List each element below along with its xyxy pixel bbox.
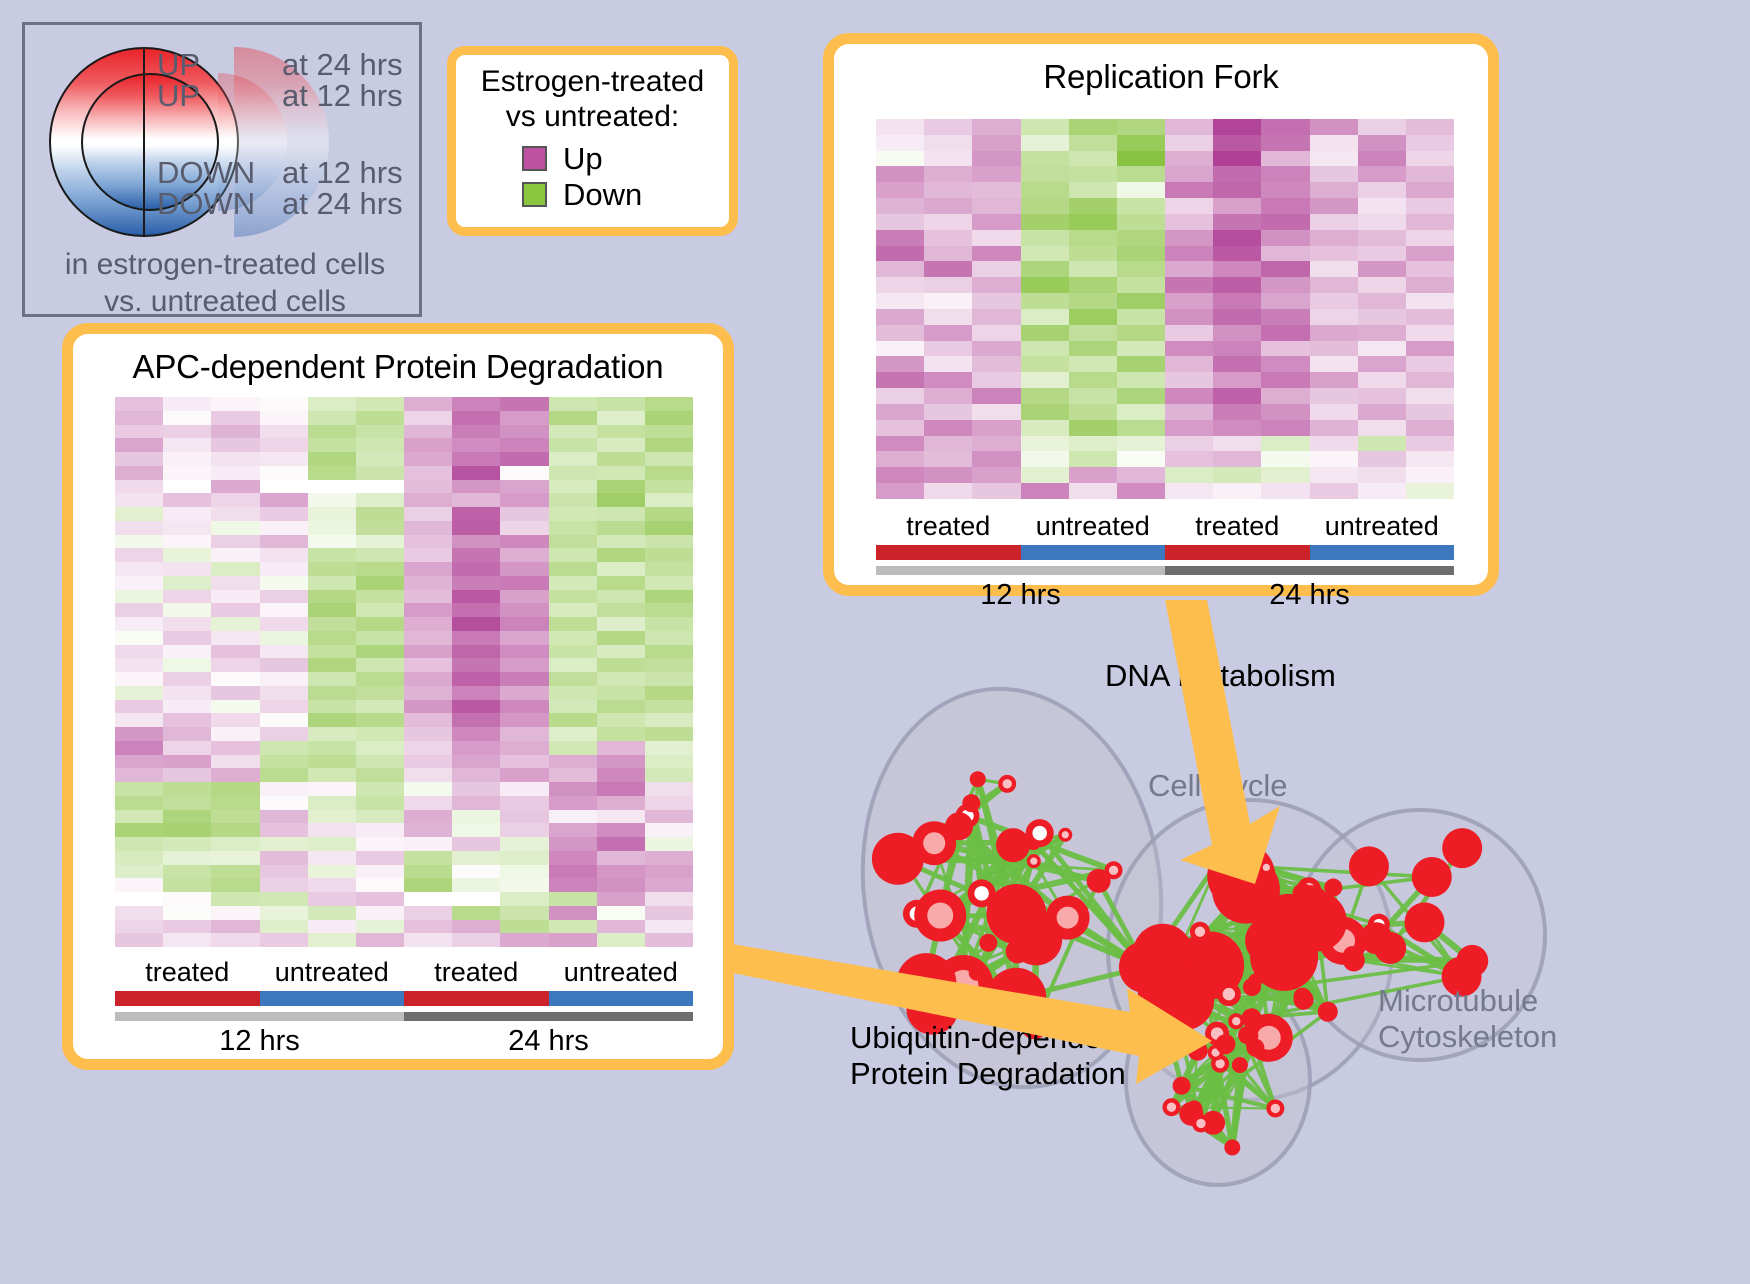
heatmap-cell xyxy=(1021,451,1069,467)
heatmap-cell xyxy=(1117,420,1165,436)
heatmap-cell xyxy=(876,388,924,404)
heatmap-cell xyxy=(452,672,500,686)
heatmap-cell xyxy=(549,645,597,659)
heatmap-cell xyxy=(163,493,211,507)
legend-title-line1: Estrogen-treated xyxy=(456,65,729,100)
heatmap-cell xyxy=(163,920,211,934)
heatmap-cell xyxy=(1358,420,1406,436)
heatmap-cell xyxy=(972,388,1020,404)
heatmap-cell xyxy=(115,631,163,645)
heatmap-cell xyxy=(452,865,500,879)
heatmap-cell xyxy=(1261,356,1309,372)
heatmap-cell xyxy=(1261,451,1309,467)
heatmap-cell xyxy=(597,878,645,892)
legend-item-down: Down xyxy=(522,177,729,213)
heatmap-cell xyxy=(597,397,645,411)
heatmap-cell xyxy=(1358,436,1406,452)
heatmap-cell xyxy=(404,480,452,494)
heatmap-cell xyxy=(163,617,211,631)
heatmap-cell xyxy=(645,700,693,714)
heatmap-cell xyxy=(1117,119,1165,135)
heatmap-cell xyxy=(645,686,693,700)
heatmap-cell xyxy=(1069,182,1117,198)
heatmap-cell xyxy=(1117,325,1165,341)
heatmap-cell xyxy=(1406,420,1454,436)
network-hub-node xyxy=(1148,993,1176,1021)
network-node xyxy=(1242,1008,1262,1028)
heatmap-cell xyxy=(404,493,452,507)
heatmap-cell xyxy=(211,480,259,494)
heatmap-cell xyxy=(356,425,404,439)
heatmap-cell xyxy=(500,823,548,837)
heatmap-cell xyxy=(1358,198,1406,214)
heatmap-cell xyxy=(645,411,693,425)
heatmap-cell xyxy=(260,755,308,769)
heatmap-cell xyxy=(597,617,645,631)
heatmap-cell xyxy=(1021,246,1069,262)
heatmap-cell xyxy=(404,865,452,879)
heatmap-cell xyxy=(1117,436,1165,452)
heatmap-cell xyxy=(972,467,1020,483)
heatmap-cell xyxy=(260,617,308,631)
heatmap-cell xyxy=(404,782,452,796)
heatmap-cell xyxy=(211,892,259,906)
heatmap-cell xyxy=(645,562,693,576)
heatmap-cell xyxy=(924,404,972,420)
heatmap-cell xyxy=(115,576,163,590)
heatmap-cell xyxy=(260,796,308,810)
heatmap-cell xyxy=(260,810,308,824)
heatmap-cell xyxy=(500,617,548,631)
heatmap-cell xyxy=(597,562,645,576)
heatmap-cell xyxy=(500,548,548,562)
heatmap-cell xyxy=(500,507,548,521)
heatmap-cell xyxy=(260,535,308,549)
network-node xyxy=(1232,1057,1248,1073)
heatmap-cell xyxy=(211,438,259,452)
heatmap-cell xyxy=(597,851,645,865)
axis-time-label-12: 12 hrs xyxy=(876,579,1165,612)
heatmap-cell xyxy=(549,906,597,920)
panel-title-replication-fork: Replication Fork xyxy=(834,44,1488,96)
heatmap-cell xyxy=(404,920,452,934)
heatmap-cell xyxy=(260,631,308,645)
heatmap-cell xyxy=(404,768,452,782)
heatmap-cell xyxy=(260,493,308,507)
network-node-core xyxy=(1263,864,1270,871)
heatmap-cell xyxy=(452,466,500,480)
heatmap-cell xyxy=(260,920,308,934)
heatmap-cell xyxy=(1117,356,1165,372)
heatmap-cell xyxy=(549,425,597,439)
heatmap-cell xyxy=(163,727,211,741)
heatmap-cell xyxy=(452,713,500,727)
heatmap-cell xyxy=(972,341,1020,357)
heatmap-cell xyxy=(972,309,1020,325)
heatmap-cell xyxy=(924,451,972,467)
network-node xyxy=(1224,1139,1240,1155)
axis-time-swatch-0 xyxy=(115,1012,404,1021)
heatmap-cell xyxy=(1117,467,1165,483)
heatmap-cell xyxy=(115,507,163,521)
heatmap-cell xyxy=(356,603,404,617)
heatmap-cell xyxy=(308,878,356,892)
heatmap-cell xyxy=(549,576,597,590)
heatmap-cell xyxy=(500,645,548,659)
heatmap-cell xyxy=(972,404,1020,420)
heatmap-cell xyxy=(452,493,500,507)
heatmap-cell xyxy=(1165,293,1213,309)
heatmap-cell xyxy=(163,452,211,466)
heatmap-cell xyxy=(1021,151,1069,167)
heatmap-cell xyxy=(1069,214,1117,230)
axis-group-label-2: treated xyxy=(404,958,549,988)
heatmap-cell xyxy=(115,493,163,507)
heatmap-cell xyxy=(1213,404,1261,420)
heatmap-cell xyxy=(500,782,548,796)
heatmap-cell xyxy=(1261,198,1309,214)
heatmap-cell xyxy=(924,151,972,167)
heatmap-cell xyxy=(404,507,452,521)
heatmap-cell xyxy=(500,727,548,741)
heatmap-cell xyxy=(972,451,1020,467)
heatmap-cell xyxy=(356,562,404,576)
heatmap-cell xyxy=(163,548,211,562)
heatmap-cell xyxy=(1358,483,1406,499)
heatmap-cell xyxy=(452,452,500,466)
heatmap-cell xyxy=(115,397,163,411)
axis-group-swatch-0 xyxy=(876,545,1021,560)
heatmap-cell xyxy=(260,700,308,714)
network-node-core xyxy=(1032,826,1047,841)
network-node xyxy=(892,848,910,866)
heatmap-cell xyxy=(163,755,211,769)
heatmap-cell xyxy=(356,658,404,672)
heatmap-cell xyxy=(1069,293,1117,309)
network-node xyxy=(1318,1002,1338,1022)
heatmap-cell xyxy=(452,906,500,920)
heatmap-cell xyxy=(1021,198,1069,214)
network-node-core xyxy=(1030,858,1037,865)
heatmap-cell xyxy=(549,548,597,562)
heatmap-cell xyxy=(1117,309,1165,325)
heatmap-cell xyxy=(1021,119,1069,135)
heatmap-cell xyxy=(1406,451,1454,467)
heatmap-cell xyxy=(404,548,452,562)
heatmap-cell xyxy=(452,878,500,892)
heatmap-cell xyxy=(356,796,404,810)
heatmap-cell xyxy=(404,590,452,604)
axis-group-labels-replication: treated untreated treated untreated xyxy=(876,512,1454,542)
heatmap-cell xyxy=(211,865,259,879)
axis-time-label-24: 24 hrs xyxy=(1165,579,1454,612)
heatmap-cell xyxy=(597,493,645,507)
heatmap-cell xyxy=(645,452,693,466)
heatmap-cell xyxy=(1310,277,1358,293)
heatmap-cell xyxy=(876,246,924,262)
axis-group-label-3: untreated xyxy=(1310,512,1455,542)
heatmap-cell xyxy=(500,425,548,439)
network-node-core xyxy=(1003,779,1012,788)
heatmap-cell xyxy=(211,617,259,631)
heatmap-cell xyxy=(115,851,163,865)
figure-root: UP at 24 hrs UP at 12 hrs DOWN at 12 hrs… xyxy=(0,0,1750,1279)
heatmap-cell xyxy=(924,372,972,388)
network-node xyxy=(979,934,997,952)
heatmap-cell xyxy=(308,411,356,425)
network-node xyxy=(1215,1034,1235,1054)
heatmap-cell xyxy=(1358,372,1406,388)
network-node-core xyxy=(1167,1103,1176,1112)
heatmap-cell xyxy=(1310,135,1358,151)
heatmap-cell xyxy=(404,933,452,947)
heatmap-cell xyxy=(500,741,548,755)
heatmap-cell xyxy=(1406,135,1454,151)
heatmap-cell xyxy=(1165,483,1213,499)
heatmap-cell xyxy=(972,372,1020,388)
key-label-up-12: UP xyxy=(157,80,282,111)
heatmap-cell xyxy=(260,521,308,535)
heatmap-cell xyxy=(500,686,548,700)
network-node-core xyxy=(927,903,953,929)
heatmap-cell xyxy=(972,261,1020,277)
heatmap-cell xyxy=(404,603,452,617)
heatmap-cell xyxy=(1261,483,1309,499)
axis-group-swatch-2 xyxy=(1165,545,1310,560)
heatmap-cell xyxy=(115,411,163,425)
network-node xyxy=(1283,956,1307,980)
heatmap-cell xyxy=(1069,483,1117,499)
heatmap-cell xyxy=(645,727,693,741)
network-node xyxy=(962,794,980,812)
heatmap-cell xyxy=(1261,436,1309,452)
heatmap-cell xyxy=(356,906,404,920)
heatmap-cell xyxy=(452,741,500,755)
heatmap-cell xyxy=(645,480,693,494)
heatmap-cell xyxy=(876,261,924,277)
heatmap-cell xyxy=(1069,230,1117,246)
axis-time-labels-replication: 12 hrs 24 hrs xyxy=(876,579,1454,612)
heatmap-cell xyxy=(260,507,308,521)
heatmap-cell xyxy=(1021,356,1069,372)
heatmap-cell xyxy=(1406,436,1454,452)
heatmap-cell xyxy=(1310,467,1358,483)
heatmap-cell xyxy=(972,436,1020,452)
heatmap-cell xyxy=(1069,325,1117,341)
heatmap-cell xyxy=(1213,420,1261,436)
heatmap-cell xyxy=(452,796,500,810)
heatmap-cell xyxy=(115,686,163,700)
heatmap-cell xyxy=(645,548,693,562)
heatmap-cell xyxy=(1165,198,1213,214)
heatmap-cell xyxy=(924,293,972,309)
axis-group-swatch-3 xyxy=(549,991,694,1006)
heatmap-cell xyxy=(1261,293,1309,309)
heatmap-cell xyxy=(308,548,356,562)
heatmap-cell xyxy=(163,741,211,755)
network-node xyxy=(970,771,986,787)
key-row-down-12: DOWN at 12 hrs xyxy=(157,157,417,188)
heatmap-cell xyxy=(115,700,163,714)
heatmap-cell xyxy=(1021,135,1069,151)
heatmap-cell xyxy=(308,741,356,755)
heatmap-cell xyxy=(260,645,308,659)
heatmap-cell xyxy=(1069,341,1117,357)
heatmap-cell xyxy=(115,535,163,549)
heatmap-cell xyxy=(1261,119,1309,135)
heatmap-cell xyxy=(597,672,645,686)
heatmap-cell xyxy=(549,713,597,727)
heatmap-cell xyxy=(211,562,259,576)
heatmap-cell xyxy=(1310,483,1358,499)
heatmap-cell xyxy=(452,700,500,714)
heatmap-cell xyxy=(597,535,645,549)
heatmap-cell xyxy=(163,438,211,452)
heatmap-cell xyxy=(1117,166,1165,182)
heatmap-cell xyxy=(452,837,500,851)
heatmap-cell xyxy=(356,507,404,521)
heatmap-cell xyxy=(876,182,924,198)
heatmap-replication-fork xyxy=(876,119,1454,499)
heatmap-cell xyxy=(404,658,452,672)
legend-items: Up Down xyxy=(456,141,729,213)
heatmap-cell xyxy=(972,230,1020,246)
heatmap-cell xyxy=(260,851,308,865)
heatmap-cell xyxy=(1358,246,1406,262)
heatmap-cell xyxy=(645,397,693,411)
heatmap-cell xyxy=(452,810,500,824)
key-label-down-24: DOWN xyxy=(157,188,282,219)
heatmap-cell xyxy=(115,837,163,851)
heatmap-cell xyxy=(549,782,597,796)
legend-label-up: Up xyxy=(563,141,603,177)
heatmap-cell xyxy=(549,823,597,837)
heatmap-cell xyxy=(308,645,356,659)
heatmap-cell xyxy=(1069,388,1117,404)
legend-title: Estrogen-treated vs untreated: xyxy=(456,55,729,135)
heatmap-cell xyxy=(260,713,308,727)
network-node-core xyxy=(1062,831,1069,838)
axis-group-label-0: treated xyxy=(115,958,260,988)
network-label-cell-cycle: Cell Cycle xyxy=(1148,768,1288,804)
heatmap-cell xyxy=(1165,325,1213,341)
heatmap-cell xyxy=(549,535,597,549)
heatmap-cell xyxy=(308,810,356,824)
heatmap-cell xyxy=(1358,356,1406,372)
heatmap-cell xyxy=(452,438,500,452)
heatmap-cell xyxy=(404,452,452,466)
heatmap-cell xyxy=(211,768,259,782)
heatmap-cell xyxy=(597,425,645,439)
heatmap-cell xyxy=(211,810,259,824)
heatmap-cell xyxy=(1310,293,1358,309)
heatmap-cell xyxy=(549,892,597,906)
heatmap-cell xyxy=(1261,277,1309,293)
heatmap-cell xyxy=(308,658,356,672)
network-node xyxy=(1316,921,1334,939)
heatmap-cell xyxy=(308,507,356,521)
heatmap-cell xyxy=(115,782,163,796)
heatmap-cell xyxy=(163,837,211,851)
heatmap-cell xyxy=(924,436,972,452)
heatmap-cell xyxy=(163,480,211,494)
heatmap-cell xyxy=(452,603,500,617)
heatmap-cell xyxy=(549,920,597,934)
heatmap-cell xyxy=(645,603,693,617)
network-node-core xyxy=(1271,1104,1280,1113)
colorwheel-footnote-line2: vs. untreated cells xyxy=(25,284,425,321)
heatmap-cell xyxy=(356,727,404,741)
heatmap-cell xyxy=(1069,135,1117,151)
heatmap-cell xyxy=(356,631,404,645)
heatmap-cell xyxy=(1021,341,1069,357)
network-node xyxy=(1186,1100,1202,1116)
heatmap-cell xyxy=(1358,451,1406,467)
heatmap-cell xyxy=(404,727,452,741)
heatmap-cell xyxy=(308,672,356,686)
heatmap-cell xyxy=(549,741,597,755)
heatmap-cell xyxy=(356,768,404,782)
heatmap-cell xyxy=(1261,325,1309,341)
heatmap-cell xyxy=(260,576,308,590)
heatmap-cell xyxy=(1213,151,1261,167)
heatmap-cell xyxy=(549,810,597,824)
heatmap-cell xyxy=(308,700,356,714)
heatmap-cell xyxy=(972,214,1020,230)
heatmap-cell xyxy=(308,603,356,617)
heatmap-cell xyxy=(1213,182,1261,198)
heatmap-cell xyxy=(115,672,163,686)
heatmap-cell xyxy=(115,452,163,466)
axis-group-label-1: untreated xyxy=(260,958,405,988)
heatmap-cell xyxy=(260,438,308,452)
heatmap-cell xyxy=(924,214,972,230)
colorwheel-divider xyxy=(143,47,145,237)
heatmap-cell xyxy=(211,920,259,934)
heatmap-cell xyxy=(404,521,452,535)
network-node xyxy=(1412,857,1452,897)
heatmap-cell xyxy=(1165,404,1213,420)
heatmap-cell xyxy=(115,865,163,879)
heatmap-cell xyxy=(308,576,356,590)
heatmap-cell xyxy=(876,230,924,246)
heatmap-cell xyxy=(645,631,693,645)
heatmap-cell xyxy=(924,483,972,499)
heatmap-cell xyxy=(1213,119,1261,135)
heatmap-cell xyxy=(211,906,259,920)
heatmap-cell xyxy=(1213,436,1261,452)
heatmap-cell xyxy=(1117,483,1165,499)
heatmap-cell xyxy=(645,782,693,796)
heatmap-cell xyxy=(597,603,645,617)
heatmap-cell xyxy=(876,341,924,357)
heatmap-cell xyxy=(211,425,259,439)
heatmap-cell xyxy=(404,796,452,810)
heatmap-cell xyxy=(211,837,259,851)
heatmap-cell xyxy=(645,851,693,865)
heatmap-cell xyxy=(356,933,404,947)
heatmap-cell xyxy=(645,906,693,920)
network-node xyxy=(1173,1077,1191,1095)
heatmap-cell xyxy=(1310,214,1358,230)
heatmap-cell xyxy=(1406,182,1454,198)
heatmap-cell xyxy=(1021,483,1069,499)
heatmap-cell xyxy=(163,796,211,810)
axis-time-label-12: 12 hrs xyxy=(115,1025,404,1058)
heatmap-cell xyxy=(1358,135,1406,151)
heatmap-cell xyxy=(308,617,356,631)
heatmap-cell xyxy=(308,920,356,934)
